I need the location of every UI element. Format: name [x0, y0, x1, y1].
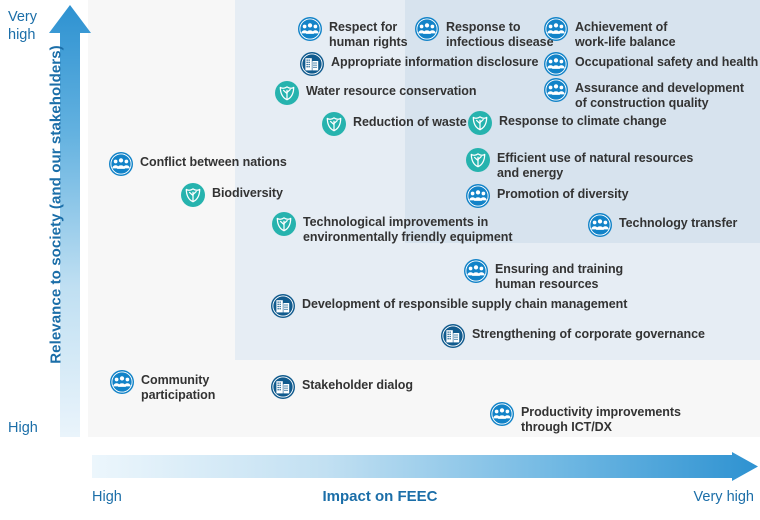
topic-item[interactable]: Biodiversity	[181, 183, 283, 207]
topic-item[interactable]: Development of responsible supply chain …	[271, 294, 627, 318]
topic-item[interactable]: Achievement of work-life balance	[544, 17, 676, 49]
topic-item-label: Response to climate change	[499, 111, 667, 129]
y-axis-top-label: Very high	[8, 8, 48, 44]
topic-item-label: Conflict between nations	[140, 152, 287, 170]
topic-item[interactable]: Assurance and development of constructio…	[544, 78, 744, 110]
leaf-icon	[468, 111, 492, 135]
topic-item-label: Assurance and development of constructio…	[575, 78, 744, 110]
topic-item-label: Achievement of work-life balance	[575, 17, 676, 49]
topic-item-label: Response to infectious disease	[446, 17, 553, 49]
leaf-icon	[181, 183, 205, 207]
topic-item[interactable]: Response to infectious disease	[415, 17, 553, 49]
leaf-icon	[322, 112, 346, 136]
people-group-icon	[415, 17, 439, 41]
topic-item[interactable]: Promotion of diversity	[466, 184, 629, 208]
topic-item[interactable]: Community participation	[110, 370, 215, 402]
topic-item-label: Efficient use of natural resources and e…	[497, 148, 693, 180]
topic-item-label: Technological improvements in environmen…	[303, 212, 512, 244]
topic-item-label: Appropriate information disclosure	[331, 52, 538, 70]
people-group-icon	[544, 78, 568, 102]
leaf-icon	[466, 148, 490, 172]
people-group-icon	[490, 402, 514, 426]
topic-item[interactable]: Occupational safety and health	[544, 52, 758, 76]
topic-item-label: Ensuring and training human resources	[495, 259, 623, 291]
people-group-icon	[298, 17, 322, 41]
topic-item[interactable]: Strengthening of corporate governance	[441, 324, 705, 348]
topic-item[interactable]: Stakeholder dialog	[271, 375, 413, 399]
building-icon	[271, 375, 295, 399]
building-icon	[441, 324, 465, 348]
x-axis-arrow-icon	[92, 452, 758, 482]
topic-item-label: Technology transfer	[619, 213, 737, 231]
topic-item-label: Biodiversity	[212, 183, 283, 201]
building-icon	[300, 52, 324, 76]
topic-item-label: Community participation	[141, 370, 215, 402]
topic-item[interactable]: Reduction of waste	[322, 112, 467, 136]
topic-item[interactable]: Ensuring and training human resources	[464, 259, 623, 291]
topic-item[interactable]: Response to climate change	[468, 111, 667, 135]
topic-item-label: Productivity improvements through ICT/DX	[521, 402, 681, 434]
people-group-icon	[544, 17, 568, 41]
people-group-icon	[109, 152, 133, 176]
topic-item[interactable]: Respect for human rights	[298, 17, 408, 49]
topic-item-label: Respect for human rights	[329, 17, 408, 49]
topic-item-label: Water resource conservation	[306, 81, 476, 99]
y-axis-title: Relevance to society (and our stakeholde…	[48, 45, 65, 365]
leaf-icon	[275, 81, 299, 105]
materiality-matrix: Relevance to society (and our stakeholde…	[0, 0, 760, 520]
topic-item-label: Development of responsible supply chain …	[302, 294, 627, 312]
leaf-icon	[272, 212, 296, 236]
building-icon	[271, 294, 295, 318]
topic-item-label: Promotion of diversity	[497, 184, 629, 202]
people-group-icon	[110, 370, 134, 394]
topic-item[interactable]: Technology transfer	[588, 213, 737, 237]
topic-item-label: Occupational safety and health	[575, 52, 758, 70]
topic-item[interactable]: Appropriate information disclosure	[300, 52, 538, 76]
people-group-icon	[544, 52, 568, 76]
topic-item[interactable]: Conflict between nations	[109, 152, 287, 176]
topic-item[interactable]: Efficient use of natural resources and e…	[466, 148, 693, 180]
people-group-icon	[466, 184, 490, 208]
topic-item[interactable]: Productivity improvements through ICT/DX	[490, 402, 681, 434]
people-group-icon	[588, 213, 612, 237]
topic-item-label: Strengthening of corporate governance	[472, 324, 705, 342]
topic-item-label: Stakeholder dialog	[302, 375, 413, 393]
y-axis-bottom-label: High	[8, 420, 52, 436]
topic-item-label: Reduction of waste	[353, 112, 467, 130]
topic-item[interactable]: Technological improvements in environmen…	[272, 212, 512, 244]
x-axis-left-label: High	[92, 489, 122, 505]
x-axis-right-label: Very high	[694, 489, 754, 505]
topic-item[interactable]: Water resource conservation	[275, 81, 476, 105]
people-group-icon	[464, 259, 488, 283]
